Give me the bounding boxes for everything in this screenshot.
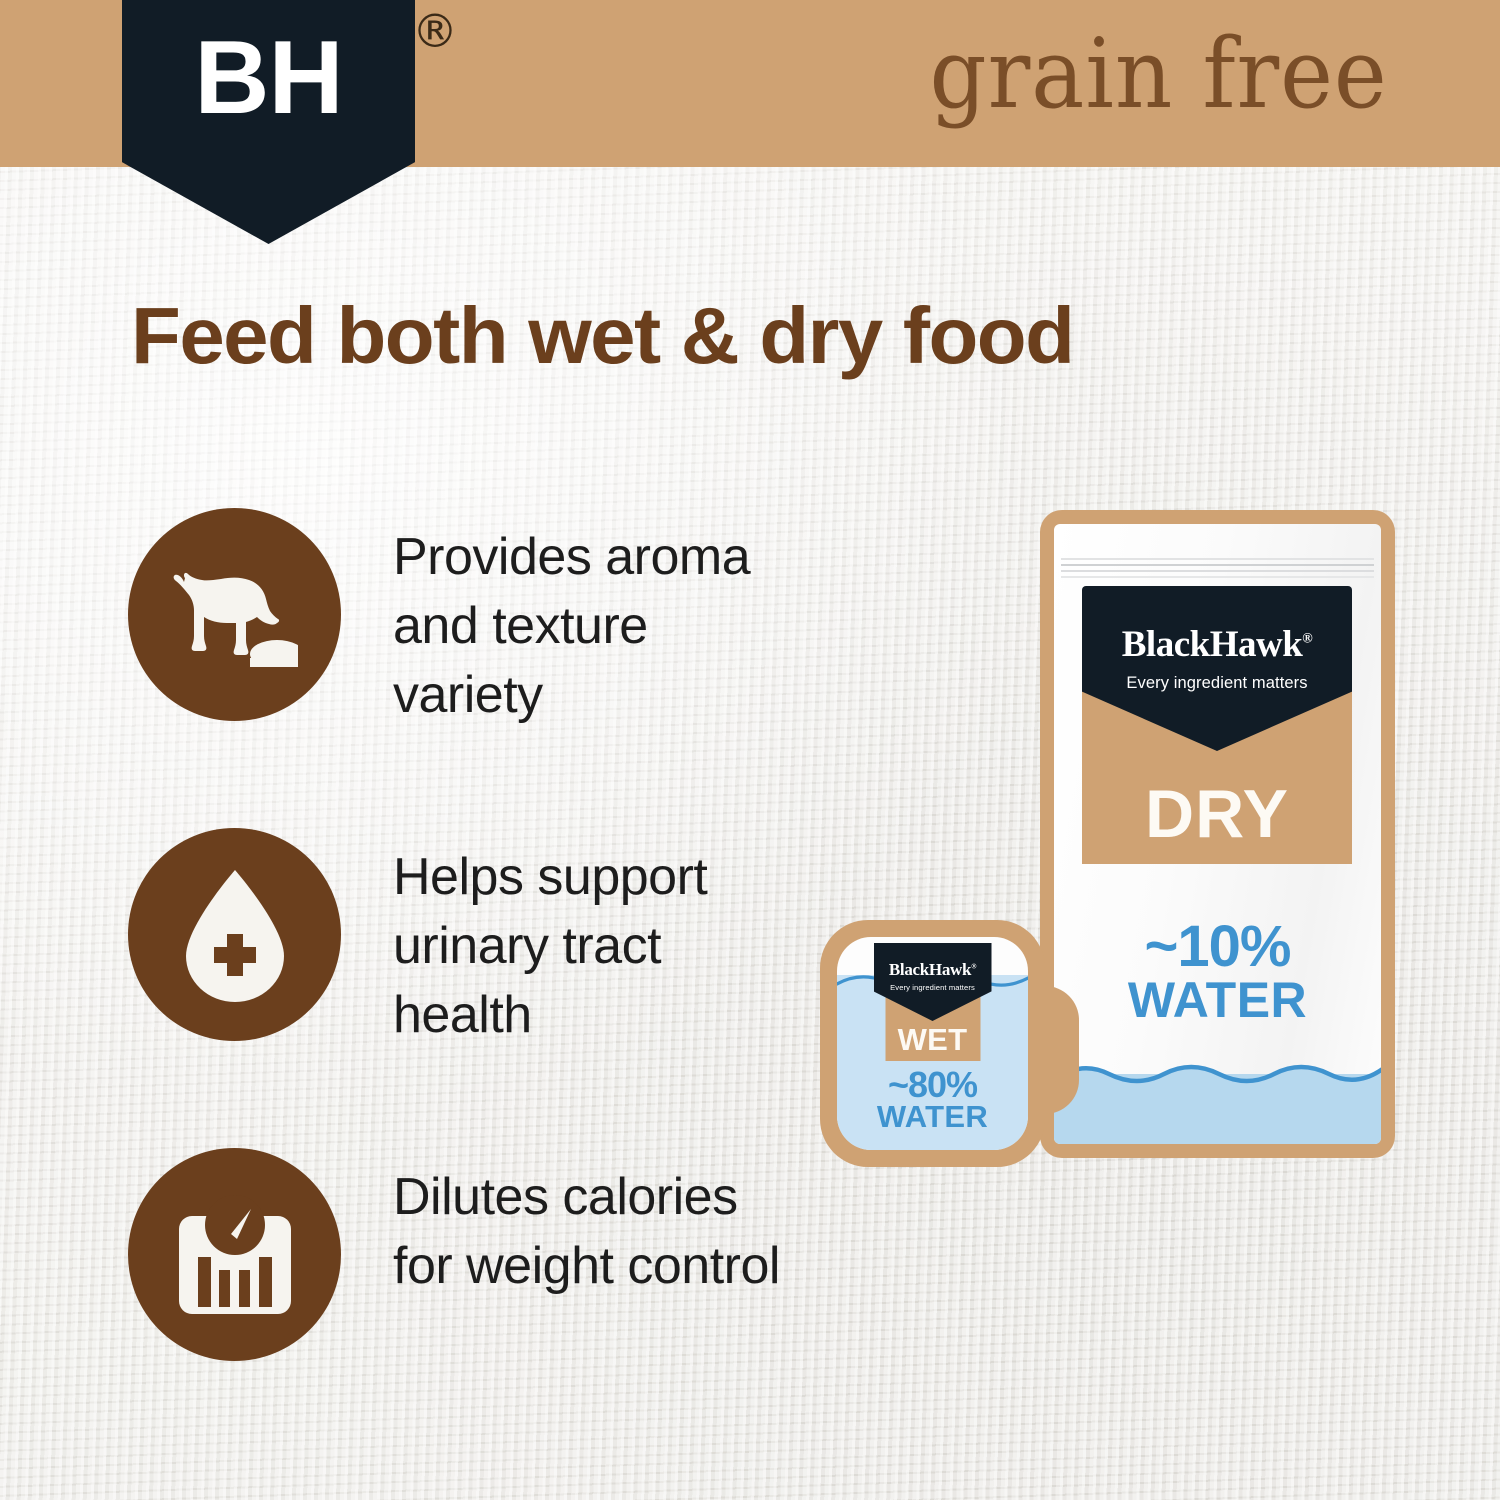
page-title: Feed both wet & dry food — [131, 296, 1447, 376]
benefit-text: Helps support urinary tract health — [393, 825, 793, 1050]
blackhawk-tagline: Every ingredient matters — [874, 983, 992, 992]
benefit-item: Helps support urinary tract health — [128, 825, 828, 1145]
dry-bag-face: DRY BlackHawk® Every ingredient matters … — [1054, 524, 1381, 1144]
wet-water-word: WATER — [837, 1102, 1028, 1131]
blackhawk-tagline: Every ingredient matters — [1082, 674, 1352, 693]
wet-tub-body: WET BlackHawk® Every ingredient matters … — [820, 920, 1045, 1167]
bag-zipper-icon — [1054, 552, 1381, 582]
weight-scale-icon — [128, 1148, 341, 1361]
wet-water-stat: ~80% WATER — [837, 1068, 1028, 1132]
poster-canvas: BH ® grain free Feed both wet & dry food… — [0, 0, 1500, 1500]
dry-water-percent: ~10% — [1054, 919, 1381, 976]
registered-trademark-icon: ® — [412, 8, 458, 54]
benefit-item: Dilutes calories for weight control — [128, 1145, 828, 1465]
bh-shield-logo: BH — [122, 0, 415, 244]
wet-type-label: WET — [885, 1024, 980, 1055]
dog-eating-bowl-icon — [128, 508, 341, 721]
wet-water-percent: ~80% — [837, 1068, 1028, 1102]
water-drop-plus-icon — [128, 828, 341, 1041]
benefits-list: Provides aroma and texture variety Helps… — [128, 505, 828, 1465]
benefit-text: Dilutes calories for weight control — [393, 1145, 793, 1301]
dry-water-stat: ~10% WATER — [1054, 919, 1381, 1025]
blackhawk-wordmark: BlackHawk® — [1082, 626, 1352, 663]
wet-food-tub: WET BlackHawk® Every ingredient matters … — [820, 920, 1073, 1182]
dry-water-word: WATER — [1054, 976, 1381, 1025]
product-illustration: DRY BlackHawk® Every ingredient matters … — [810, 495, 1450, 1215]
blackhawk-wordmark: BlackHawk® — [874, 961, 992, 978]
benefit-text: Provides aroma and texture variety — [393, 505, 793, 730]
dry-food-bag: DRY BlackHawk® Every ingredient matters … — [1040, 510, 1395, 1158]
bh-initials: BH — [194, 26, 342, 130]
benefit-item: Provides aroma and texture variety — [128, 505, 828, 825]
grain-free-tagline: grain free — [930, 14, 1388, 134]
wet-tub-face: WET BlackHawk® Every ingredient matters … — [837, 937, 1028, 1150]
dry-water-wave-icon — [1054, 1058, 1381, 1092]
dry-type-label: DRY — [1082, 780, 1352, 848]
